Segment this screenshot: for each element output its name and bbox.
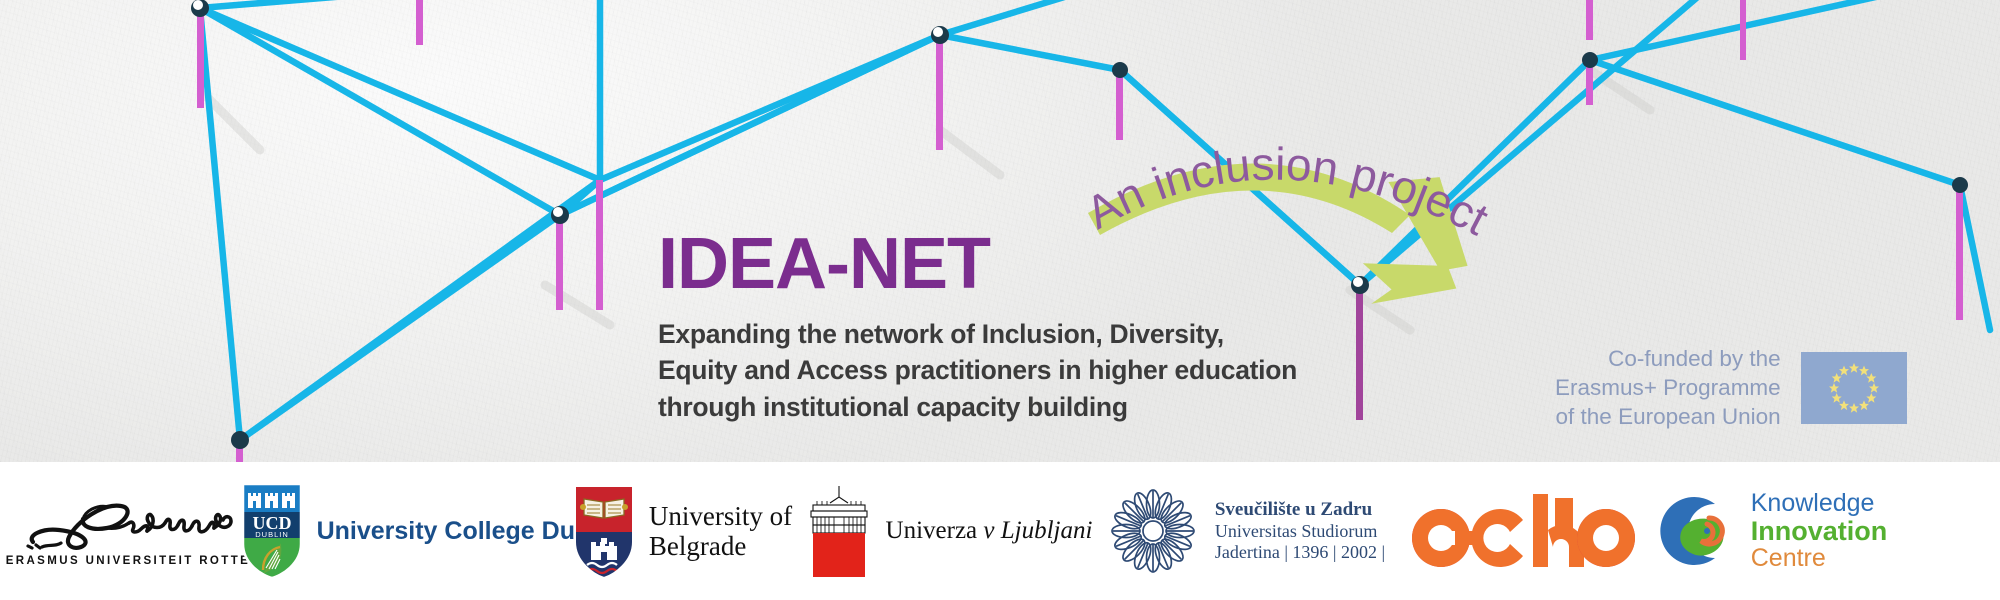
ljubljana-word-univerza: Univerza [886, 517, 978, 544]
eu-funding-text: Co-funded by the Erasmus+ Programme of t… [1555, 345, 1781, 431]
ljubljana-word-v: v [983, 517, 994, 544]
kic-line-innovation: Innovation [1751, 517, 1888, 546]
pin [416, 0, 423, 45]
partner-logo-knowledge-innovation-centre[interactable]: Knowledge Innovation Centre [1645, 462, 1895, 600]
title-block: IDEA-NET Expanding the network of Inclus… [658, 228, 1338, 425]
european-union-flag-icon [1801, 352, 1907, 424]
echo-wordmark-icon [1405, 490, 1635, 572]
pin [1740, 0, 1746, 60]
zadar-rosette-icon [1105, 483, 1201, 579]
page-title: IDEA-NET [658, 228, 1338, 300]
ljubljana-building-icon [808, 483, 870, 579]
zadar-wordmark: Sveučilište u Zadru Universitas Studioru… [1215, 499, 1385, 564]
belgrade-coat-of-arms-icon [573, 482, 635, 580]
partner-logo-university-of-zadar[interactable]: Sveučilište u Zadru Universitas Studioru… [1095, 462, 1395, 600]
subtitle-line-2: Equity and Access practitioners in highe… [658, 352, 1338, 388]
belgrade-line-2: Belgrade [649, 531, 792, 561]
ljubljana-wordmark: Univerza v Ljubljani [886, 517, 1093, 545]
belgrade-wordmark: University of Belgrade [649, 501, 792, 561]
subtitle-line-3: through institutional capacity building [658, 389, 1338, 425]
kic-spiral-icon [1653, 488, 1739, 574]
zadar-line-1: Sveučilište u Zadru [1215, 499, 1385, 521]
kic-wordmark: Knowledge Innovation Centre [1751, 490, 1888, 572]
pin [231, 431, 249, 462]
pin [1586, 0, 1593, 40]
pin [596, 180, 603, 310]
belgrade-line-1: University of [649, 501, 792, 531]
banner-page: An inclusion project IDEA-NET Expanding … [0, 0, 2000, 600]
partner-logo-university-of-belgrade[interactable]: University of Belgrade [560, 462, 805, 600]
zadar-line-3: Jadertina | 1396 | 2002 | [1215, 542, 1385, 563]
partner-logo-university-of-ljubljana[interactable]: Univerza v Ljubljani [805, 462, 1095, 600]
kic-line-centre: Centre [1751, 545, 1888, 572]
funding-line-3: of the European Union [1555, 403, 1781, 432]
ljubljana-word-ljubljani: Ljubljani [1001, 517, 1093, 544]
hero-banner: An inclusion project IDEA-NET Expanding … [0, 0, 2000, 462]
page-subtitle: Expanding the network of Inclusion, Dive… [658, 316, 1338, 425]
partner-logo-bar: ERASMUS UNIVERSITEIT ROTTERDAM [0, 462, 2000, 600]
partner-logo-echo[interactable] [1395, 462, 1645, 600]
subtitle-line-1: Expanding the network of Inclusion, Dive… [658, 316, 1338, 352]
ucd-shield-icon: UCD DUBLIN [241, 482, 303, 580]
erasmus-signature-icon [25, 495, 275, 553]
zadar-line-2: Universitas Studiorum [1215, 521, 1385, 542]
kic-line-knowledge: Knowledge [1751, 490, 1888, 517]
funding-line-1: Co-funded by the [1555, 345, 1781, 374]
funding-line-2: Erasmus+ Programme [1555, 374, 1781, 403]
svg-text:DUBLIN: DUBLIN [255, 530, 289, 539]
eu-funding-block: Co-funded by the Erasmus+ Programme of t… [1555, 345, 1907, 431]
partner-logo-university-college-dublin[interactable]: UCD DUBLIN University College Dub [300, 462, 560, 600]
